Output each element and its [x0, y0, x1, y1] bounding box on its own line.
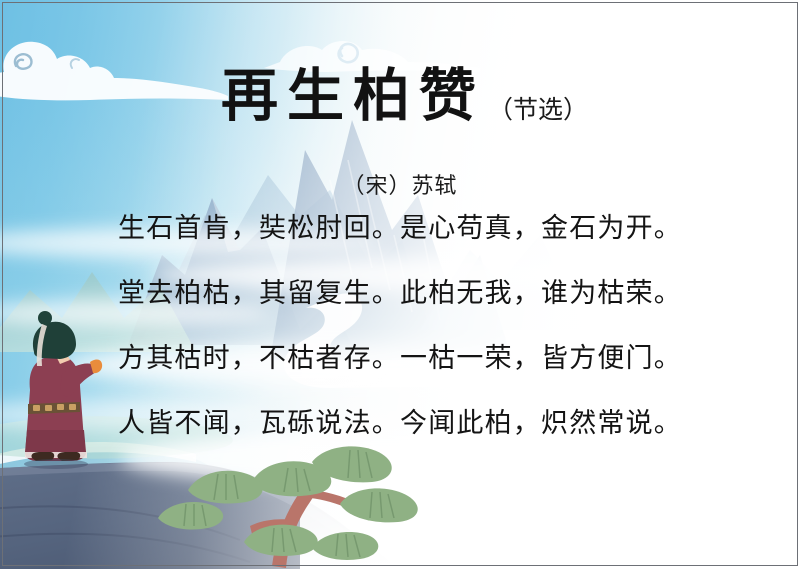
title-suffix: （节选） — [488, 98, 588, 125]
page-title: 再生柏赞 — [212, 68, 485, 125]
poem-body: 生石首肯，奘松肘回。是心苟真，金石为开。 堂去柏枯，其留复生。此柏无我，谁为枯荣… — [0, 215, 800, 475]
poem-line: 生石首肯，奘松肘回。是心苟真，金石为开。 — [0, 215, 800, 242]
poem-card: 再生柏赞 （节选） （宋）苏轼 生石首肯，奘松肘回。是心苟真，金石为开。 堂去柏… — [0, 0, 800, 569]
poem-line: 人皆不闻，瓦砾说法。今闻此柏，炽然常说。 — [0, 410, 800, 437]
poem-line: 方其枯时，不枯者存。一枯一荣，皆方便门。 — [0, 345, 800, 372]
poem-line: 堂去柏枯，其留复生。此柏无我，谁为枯荣。 — [0, 280, 800, 307]
poem-author: （宋）苏轼 — [0, 168, 800, 200]
title-row: 再生柏赞 （节选） — [0, 68, 800, 125]
poem-content: 再生柏赞 （节选） （宋）苏轼 生石首肯，奘松肘回。是心苟真，金石为开。 堂去柏… — [0, 0, 800, 569]
